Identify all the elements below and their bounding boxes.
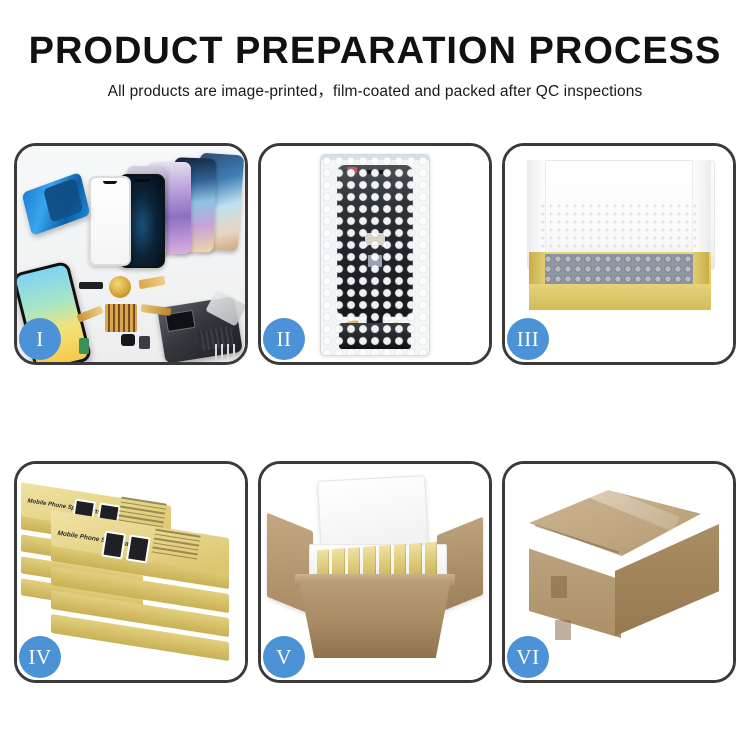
step-badge-iii: III [507, 318, 549, 360]
step-badge-v: V [263, 636, 305, 678]
step-panel-iii: III [502, 143, 736, 365]
product-preparation-infographic: PRODUCT PREPARATION PROCESS All products… [0, 0, 750, 750]
header: PRODUCT PREPARATION PROCESS All products… [0, 28, 750, 102]
box-thumb-image [101, 531, 126, 560]
yellow-box-slice [409, 543, 421, 578]
step-badge-iv: IV [19, 636, 61, 678]
step-panel-vi: VI [502, 461, 736, 683]
flex-cable-part-3 [76, 305, 103, 322]
step-badge-i: I [19, 318, 61, 360]
step-panel-i: I [14, 143, 248, 365]
speaker-coil-part [109, 276, 131, 298]
screws-part [215, 344, 237, 360]
tray-front-face [529, 284, 711, 310]
carton-body [299, 580, 451, 658]
camera-module-part [121, 334, 135, 346]
step-panel-ii: II [258, 143, 492, 365]
step-panel-v: V [258, 461, 492, 683]
carton-tab-upper [551, 576, 567, 598]
button-part [139, 336, 150, 349]
step-badge-vi: VI [507, 636, 549, 678]
box-stack: Mobile Phone Spare Parts [21, 478, 241, 668]
flex-cable-part-1 [138, 276, 165, 289]
bubble-wrapped-contents [543, 254, 697, 286]
chip-array-part [105, 304, 137, 332]
earpiece-speaker-part [79, 282, 103, 289]
blue-adhesive-film [22, 172, 91, 236]
battery-connector-part [79, 338, 89, 354]
yellow-box-slice [425, 542, 437, 577]
page-subtitle: All products are image-printed，film-coat… [0, 82, 750, 102]
steps-grid: I [14, 143, 736, 683]
step-panel-iv: Mobile Phone Spare Parts [14, 461, 248, 683]
box-thumb-image [126, 534, 151, 563]
tempered-glass-panel [89, 176, 131, 266]
carton-tab-lower [555, 620, 571, 640]
step-badge-ii: II [263, 318, 305, 360]
bubble-wrap-bag [320, 154, 430, 356]
bubble-texture [321, 155, 429, 355]
page-title: PRODUCT PREPARATION PROCESS [0, 28, 750, 74]
